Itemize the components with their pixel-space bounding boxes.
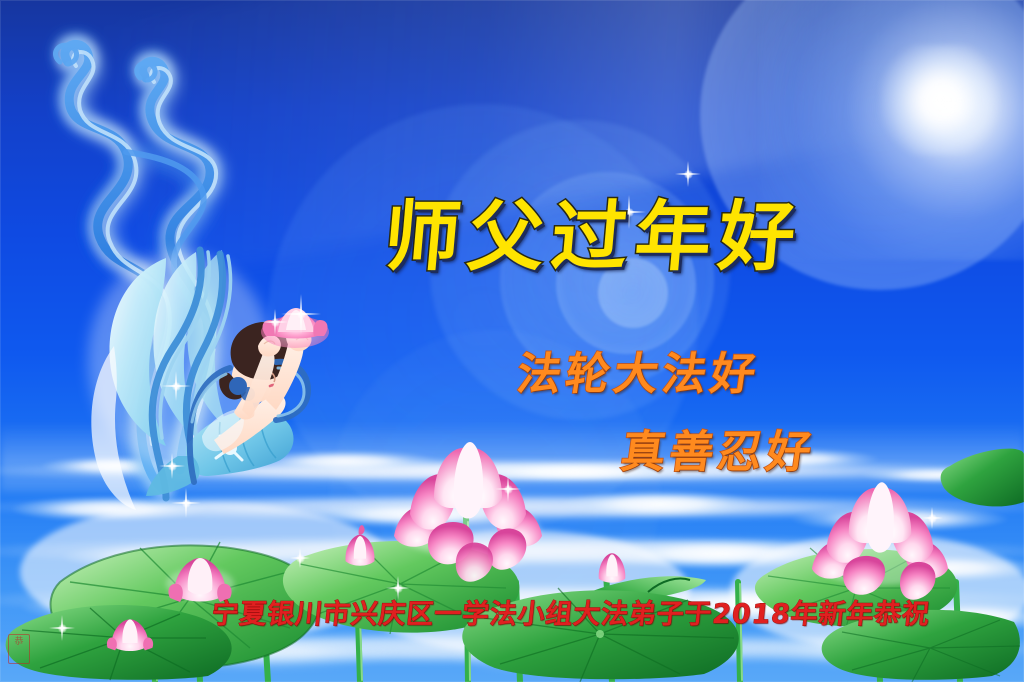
- sun-core-icon: [880, 45, 1000, 155]
- greeting-card: 师父过年好 法轮大法好 真善忍好 宁夏银川市兴庆区一学法小组大法弟子于2018年…: [0, 0, 1024, 682]
- greeting-title: 师父过年好: [380, 175, 808, 285]
- slogan-line-2: 真善忍好: [618, 416, 821, 480]
- red-seal-stamp-icon: 恭: [8, 634, 30, 664]
- sender-signature: 宁夏银川市兴庆区一学法小组大法弟子于2018年新年恭祝: [210, 592, 932, 631]
- slogan-line-1: 法轮大法好: [514, 338, 765, 402]
- lotus-pond-garden-icon: [0, 432, 1024, 682]
